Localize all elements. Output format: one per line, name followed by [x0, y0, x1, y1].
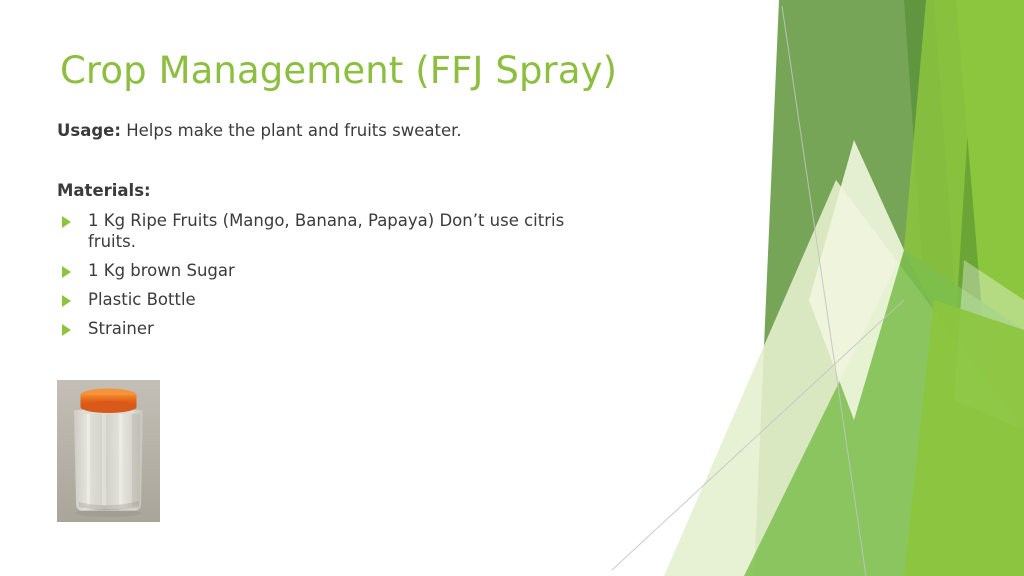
jar-shade-right: [132, 414, 140, 506]
usage-text: Helps make the plant and fruits sweater.: [121, 121, 462, 140]
facet-hairline-lower: [612, 300, 904, 570]
jar-highlight-3: [119, 414, 122, 506]
facet-shape-bright-right: [866, 0, 1024, 576]
facet-shape-dark-wedge: [904, 0, 996, 480]
list-item-label: Plastic Bottle: [88, 290, 196, 309]
plastic-jar-photo: [57, 380, 160, 522]
facet-shape-mid-sheet: [744, 250, 1024, 576]
slide-title: Crop Management (FFJ Spray): [60, 50, 660, 93]
triangle-bullet-icon: [62, 266, 71, 278]
list-item: 1 Kg brown Sugar: [57, 260, 617, 281]
materials-heading: Materials:: [57, 180, 617, 202]
list-item: Plastic Bottle: [57, 289, 617, 310]
usage-line: Usage: Helps make the plant and fruits s…: [57, 120, 617, 142]
triangle-bullet-icon: [62, 324, 71, 336]
list-item-label: 1 Kg brown Sugar: [88, 261, 235, 280]
facet-shape-bright-inner: [904, 0, 976, 350]
body-spacer: [57, 152, 617, 180]
list-item: Strainer: [57, 318, 617, 339]
jar-ground-shadow: [76, 509, 142, 517]
jar-highlight-2: [102, 414, 106, 506]
triangle-bullet-icon: [62, 295, 71, 307]
list-item: 1 Kg Ripe Fruits (Mango, Banana, Papaya)…: [57, 210, 617, 252]
materials-list: 1 Kg Ripe Fruits (Mango, Banana, Papaya)…: [57, 210, 617, 340]
facet-shape-bright-bottom: [904, 300, 1024, 576]
facet-hairline-upper: [782, 6, 866, 576]
list-item-label: 1 Kg Ripe Fruits (Mango, Banana, Papaya)…: [88, 211, 564, 251]
slide-body: Usage: Helps make the plant and fruits s…: [57, 120, 617, 347]
facet-decoration-graphic: [604, 0, 1024, 576]
facet-shape-pale-upper: [809, 140, 904, 420]
list-item-label: Strainer: [88, 319, 154, 338]
slide-canvas: Crop Management (FFJ Spray) Usage: Helps…: [0, 0, 1024, 576]
facet-polygons: [604, 0, 1024, 576]
jar-illustration: [57, 380, 160, 522]
facet-shape-medium-top: [754, 0, 976, 576]
usage-label: Usage:: [57, 121, 121, 140]
facet-shape-pale-sheet: [664, 180, 1024, 576]
jar-highlight-1: [87, 414, 90, 506]
triangle-bullet-icon: [62, 216, 71, 228]
jar-lid-bottom: [81, 401, 137, 413]
facet-shape-light-tint: [954, 260, 1024, 430]
